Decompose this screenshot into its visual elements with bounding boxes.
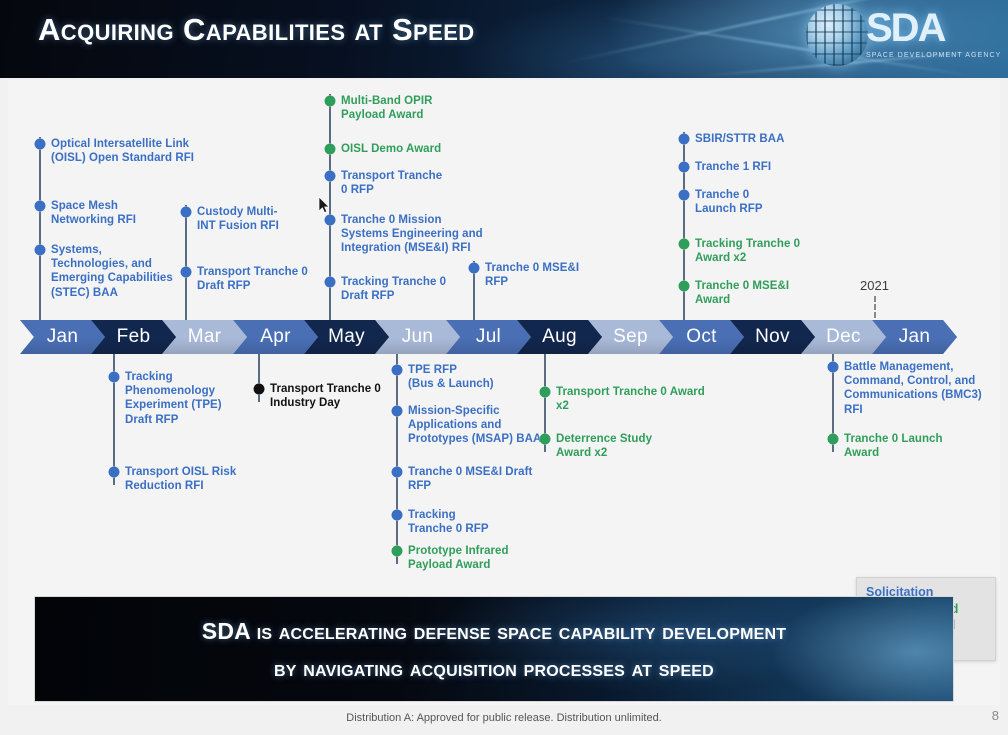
timeline-year-label: 2021 <box>860 278 889 293</box>
timeline-event-label: Tracking Tranche 0 Award x2 <box>695 237 800 265</box>
timeline-event-label: Battle Management, Command, Control, and… <box>844 360 982 417</box>
timeline-event-dot[interactable] <box>679 239 690 250</box>
timeline-event-label: Mission-Specific Applications and Protot… <box>408 404 541 447</box>
timeline-event-label: Multi-Band OPIR Payload Award <box>341 94 432 122</box>
timeline-event-dot[interactable] <box>540 387 551 398</box>
timeline-month-label: Jul <box>476 326 501 348</box>
globe-icon <box>806 4 868 66</box>
page-number: 8 <box>992 708 999 723</box>
timeline-month-label: Jun <box>402 326 434 348</box>
timeline-event-dot[interactable] <box>109 372 120 383</box>
timeline-event-label: SBIR/STTR BAA <box>695 132 784 146</box>
timeline-event-label: TPE RFP (Bus & Launch) <box>408 363 494 391</box>
timeline-month-label: Oct <box>686 326 716 348</box>
timeline-event-label: Tranche 0 Mission Systems Engineering an… <box>341 213 483 256</box>
page-title: Acquiring Capabilities at Speed <box>38 12 475 48</box>
timeline-event-dot[interactable] <box>392 365 403 376</box>
timeline-month-jan-0[interactable]: Jan <box>20 320 105 354</box>
timeline-event-dot[interactable] <box>392 406 403 417</box>
timeline-event-label: Tracking Tranche 0 RFP <box>408 508 489 536</box>
timeline-event-label: Prototype Infrared Payload Award <box>408 544 509 572</box>
sda-logo-subtitle: SPACE DEVELOPMENT AGENCY <box>866 52 1001 59</box>
timeline-event-dot[interactable] <box>325 96 336 107</box>
slide: Acquiring Capabilities at Speed SDA SPAC… <box>0 0 1008 735</box>
slide-header: Acquiring Capabilities at Speed SDA SPAC… <box>0 0 1008 78</box>
timeline-stem <box>258 354 260 402</box>
sda-logo-text: SDA <box>866 6 944 51</box>
timeline-month-label: May <box>328 326 365 348</box>
timeline-event-dot[interactable] <box>828 434 839 445</box>
timeline-year-tick <box>874 296 876 318</box>
timeline-event-label: Custody Multi- INT Fusion RFI <box>197 205 279 233</box>
timeline-month-label: Feb <box>117 326 151 348</box>
timeline-month-label: Jan <box>899 326 931 348</box>
timeline-event-label: Tranche 0 Launch RFP <box>695 188 763 216</box>
timeline-event-dot[interactable] <box>325 171 336 182</box>
timeline-stem <box>39 137 41 320</box>
timeline-event-dot[interactable] <box>679 134 690 145</box>
timeline-event-label: Space Mesh Networking RFI <box>51 199 136 227</box>
timeline-event-label: Tracking Tranche 0 Draft RFP <box>341 275 446 303</box>
timeline-event-label: Optical Intersatellite Link (OISL) Open … <box>51 137 194 165</box>
timeline-event-label: Tranche 0 MSE&I Award <box>695 279 789 307</box>
timeline-event-dot[interactable] <box>828 362 839 373</box>
timeline-event-dot[interactable] <box>35 245 46 256</box>
timeline-event-label: Tranche 0 Launch Award <box>844 432 943 460</box>
timeline-event-dot[interactable] <box>392 510 403 521</box>
timeline-month-label: Dec <box>826 326 861 348</box>
timeline-month-label: Sep <box>613 326 648 348</box>
timeline-event-label: Transport Tranche 0 Award x2 <box>556 385 705 413</box>
timeline-event-dot[interactable] <box>392 467 403 478</box>
timeline-stem <box>185 205 187 320</box>
timeline-event-dot[interactable] <box>679 281 690 292</box>
sda-logo: SDA SPACE DEVELOPMENT AGENCY <box>800 2 1000 76</box>
timeline-event-dot[interactable] <box>392 546 403 557</box>
distribution-statement: Distribution A: Approved for public rele… <box>0 712 1008 724</box>
timeline-month-label: Apr <box>260 326 290 348</box>
timeline-event-label: Tranche 1 RFI <box>695 160 771 174</box>
timeline-month-label: Jan <box>47 326 79 348</box>
timeline-month-label: Aug <box>542 326 577 348</box>
timeline-event-label: Transport Tranche 0 RFP <box>341 169 442 197</box>
timeline-event-label: OISL Demo Award <box>341 142 441 156</box>
timeline-event-label: Tranche 0 MSE&I Draft RFP <box>408 465 532 493</box>
timeline-event-dot[interactable] <box>325 215 336 226</box>
timeline-event-dot[interactable] <box>469 263 480 274</box>
timeline-stem <box>396 354 398 564</box>
timeline-event-label: Transport Tranche 0 Draft RFP <box>197 265 308 293</box>
timeline-event-label: Tracking Phenomenology Experiment (TPE) … <box>125 370 222 427</box>
timeline-event-label: Systems, Technologies, and Emerging Capa… <box>51 243 173 300</box>
timeline-stem <box>683 132 685 320</box>
timeline-event-dot[interactable] <box>679 190 690 201</box>
summary-banner: SDA is accelerating defense space capabi… <box>35 597 953 701</box>
timeline-event-label: Tranche 0 MSE&I RFP <box>485 261 579 289</box>
banner-line-2: by navigating acquisition processes at s… <box>35 655 953 682</box>
timeline-event-dot[interactable] <box>325 144 336 155</box>
timeline-event-label: Transport Tranche 0 Industry Day <box>270 382 381 410</box>
timeline-event-dot[interactable] <box>325 277 336 288</box>
timeline-event-dot[interactable] <box>540 434 551 445</box>
timeline-event-dot[interactable] <box>181 207 192 218</box>
timeline-event-dot[interactable] <box>254 384 265 395</box>
timeline-event-dot[interactable] <box>35 139 46 150</box>
banner-line-1: SDA is accelerating defense space capabi… <box>35 618 953 645</box>
timeline-event-label: Transport OISL Risk Reduction RFI <box>125 465 236 493</box>
timeline-month-label: Nov <box>755 326 790 348</box>
timeline-month-label: Mar <box>188 326 222 348</box>
timeline-event-dot[interactable] <box>679 162 690 173</box>
timeline-event-dot[interactable] <box>109 467 120 478</box>
timeline-event-dot[interactable] <box>35 201 46 212</box>
timeline-event-dot[interactable] <box>181 267 192 278</box>
timeline-event-label: Deterrence Study Award x2 <box>556 432 652 460</box>
